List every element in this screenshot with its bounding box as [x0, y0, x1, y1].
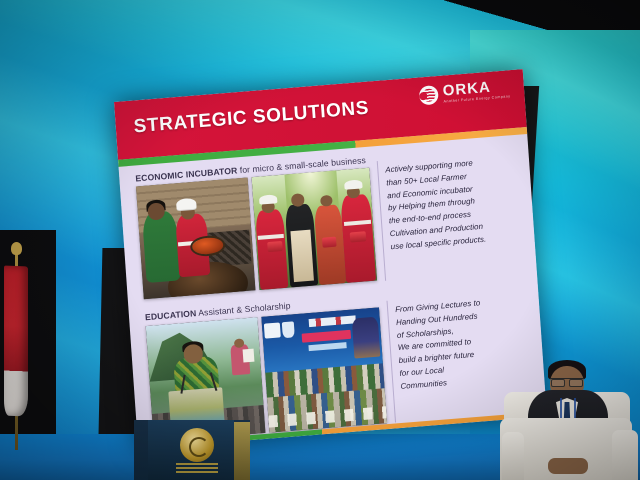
national-flag	[4, 262, 30, 452]
flag-cloth	[4, 266, 28, 417]
conference-seal-icon	[180, 428, 214, 462]
seated-person-hands	[548, 458, 588, 474]
note-education: From Giving Lectures to Handing Out Hund…	[395, 294, 533, 394]
armchair-arm-right	[612, 430, 638, 480]
section-divider-1	[377, 161, 386, 281]
conference-stage-scene: STRATEGIC SOLUTIONS ORKA Another Future …	[0, 0, 640, 480]
photo-incubator-processing	[136, 178, 256, 300]
photo-education-scholarship-group	[261, 307, 387, 432]
flag-finial-icon	[11, 242, 22, 255]
stage-podium	[134, 420, 250, 480]
projection-screen: STRATEGIC SOLUTIONS ORKA Another Future …	[114, 69, 547, 449]
section-divider-2	[387, 301, 397, 423]
podium-emblem-caption	[176, 463, 218, 475]
armchair-arm-left	[502, 432, 524, 480]
photo-incubator-farmers	[252, 168, 378, 290]
presentation-slide: STRATEGIC SOLUTIONS ORKA Another Future …	[114, 69, 547, 449]
glasses-icon	[550, 378, 584, 384]
section-label-strong-2: EDUCATION	[145, 308, 197, 322]
note-economic-incubator: Actively supporting more than 50+ Local …	[385, 154, 523, 254]
podium-side-panel	[234, 422, 250, 480]
orka-circle-logo-icon	[418, 85, 438, 105]
